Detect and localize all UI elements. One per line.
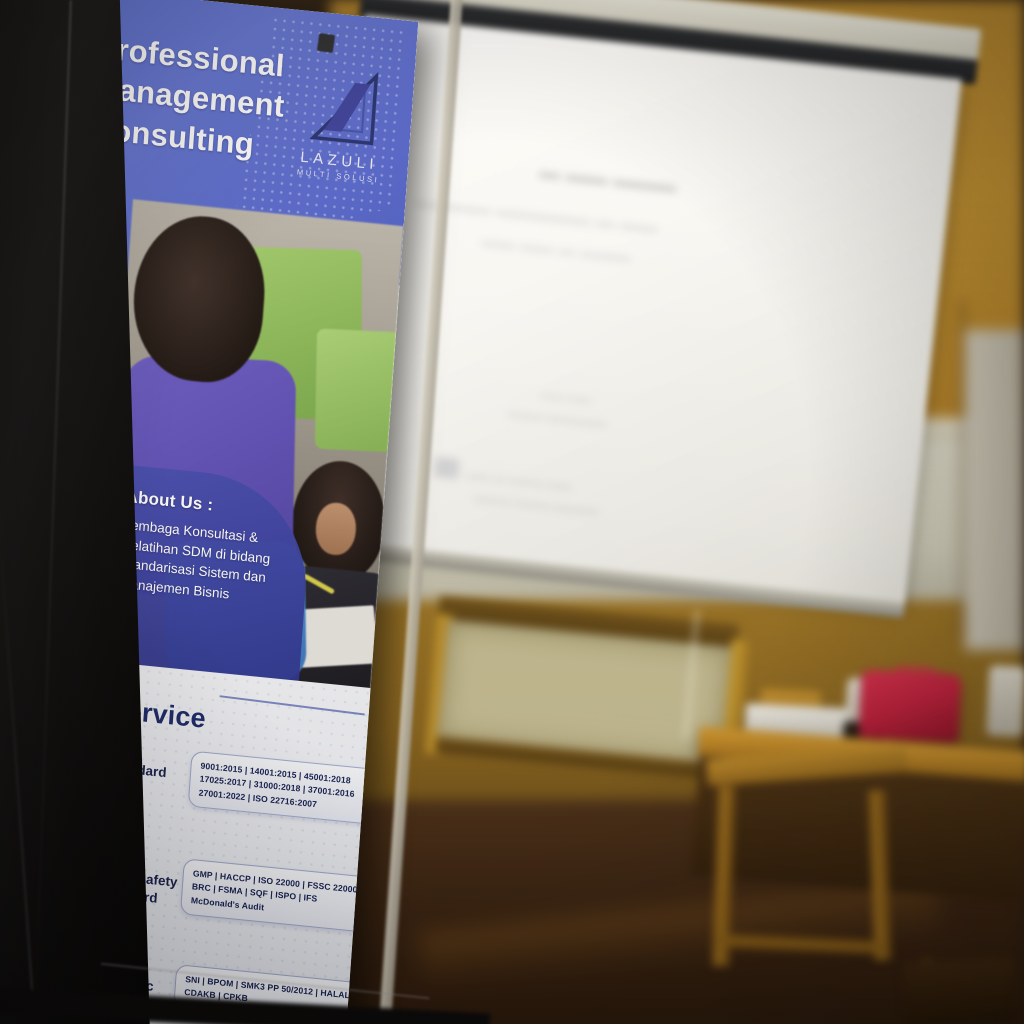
slide-detail-1: —— —— xyxy=(539,388,592,407)
lazuli-logo: LAZULI MULTI SOLUSI xyxy=(295,61,389,187)
slide-detail-2: ——— ————— xyxy=(507,406,607,431)
red-bag xyxy=(858,669,961,742)
slide-footer-2: ——— ——— ———— xyxy=(473,491,600,519)
photo-scene: — —— ——— ———— ————— — —— —— —— — ——— —— … xyxy=(0,0,1024,1024)
door-panel xyxy=(965,330,1024,650)
side-object xyxy=(986,665,1024,737)
photo-paper xyxy=(296,605,378,668)
slide-logo-mark xyxy=(434,457,460,479)
foreground-chair xyxy=(903,957,1016,1024)
triangle-arrow-logo-icon xyxy=(297,61,389,155)
about-us-body: Lembaga Konsultasi & Pelatihan SDM di bi… xyxy=(119,515,306,611)
slide-subtitle-2: —— —— — ——— xyxy=(480,232,631,268)
slide-footer-1: —— — ——— —— xyxy=(465,468,572,493)
banner-clip xyxy=(317,33,335,53)
slide-subtitle: ———— ————— — —— xyxy=(414,193,659,241)
slide-title: — —— ——— xyxy=(538,162,677,201)
